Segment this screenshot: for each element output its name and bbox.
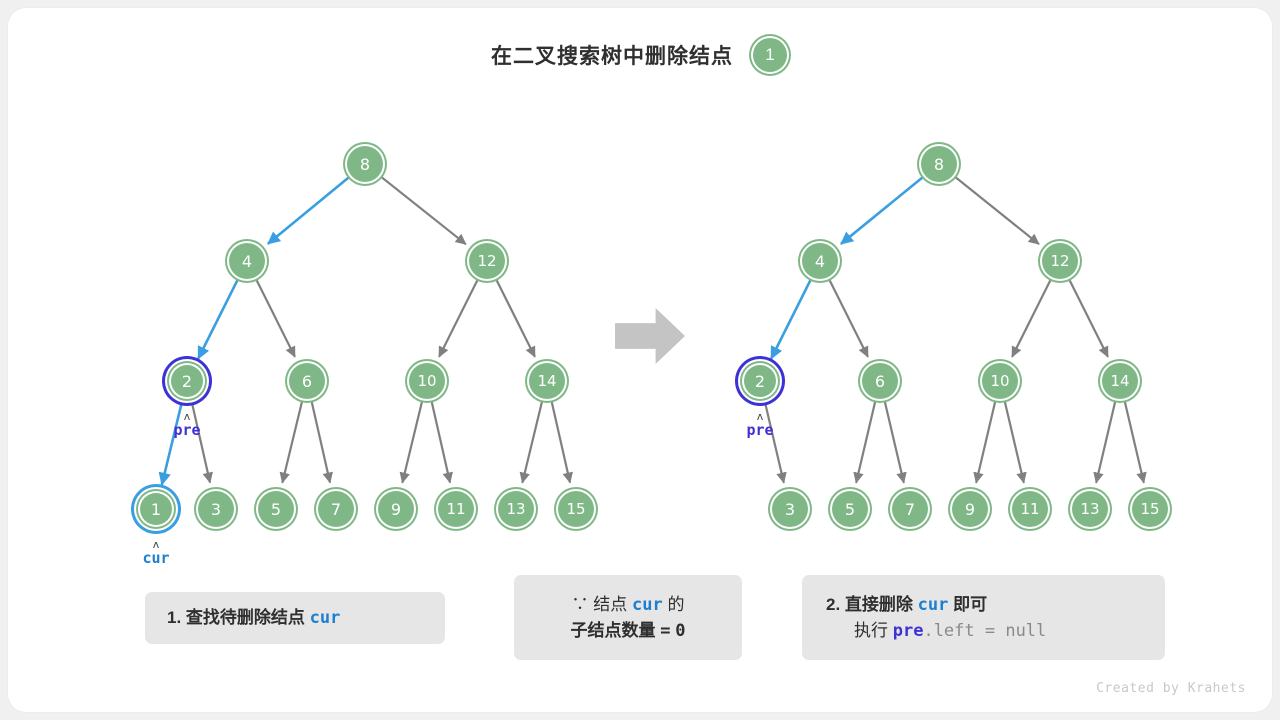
credit-text: Created by Krahets (1096, 681, 1246, 696)
tree-node-13[interactable]: 13 (496, 489, 536, 529)
caption-step-2: 2. 直接删除 cur 即可 执行 pre.left = null (802, 575, 1165, 660)
tree-node-3[interactable]: 3 (196, 489, 236, 529)
caption-2-line1-post: 的 (667, 595, 684, 614)
caption-3-line1-post: 即可 (953, 595, 987, 614)
tree-edge (256, 280, 295, 357)
tree-edge (496, 280, 535, 357)
transition-arrow-icon (615, 308, 685, 364)
tree-edge (1069, 280, 1108, 357)
tree-node-4[interactable]: 4 (227, 241, 267, 281)
tree-edge (955, 177, 1039, 244)
tree-edge (771, 280, 810, 359)
tree-node-9[interactable]: 9 (950, 489, 990, 529)
pointer-name: cur (142, 549, 169, 567)
tree-edge (1005, 401, 1024, 482)
tree-edge (402, 401, 422, 482)
tree-node-3[interactable]: 3 (770, 489, 810, 529)
tree-edge (268, 177, 349, 244)
pointer-name: pre (746, 421, 773, 439)
diagram-card: 在二叉搜索树中删除结点 1 841226101413579111315ʌpreʌ… (8, 8, 1272, 712)
tree-edge (1125, 401, 1144, 482)
right-tree-edges (764, 177, 1144, 483)
caret-icon: ʌ (152, 412, 222, 421)
tree-node-15[interactable]: 15 (556, 489, 596, 529)
tree-edge (552, 401, 570, 482)
caption-2-line2: 子结点数量 (571, 621, 656, 640)
tree-edge (522, 401, 542, 482)
tree-node-4[interactable]: 4 (800, 241, 840, 281)
tree-node-10[interactable]: 10 (980, 361, 1020, 401)
caption-2-line1-pre: ∵ 结点 (572, 595, 628, 614)
tree-edge (198, 280, 237, 359)
tree-edge (885, 401, 904, 482)
caption-reason: ∵ 结点 cur 的 子结点数量 = 0 (514, 575, 742, 660)
tree-node-5[interactable]: 5 (830, 489, 870, 529)
pointer-label-pre: ʌpre (152, 412, 222, 439)
caret-icon: ʌ (121, 540, 191, 549)
tree-node-15[interactable]: 15 (1130, 489, 1170, 529)
tree-node-12[interactable]: 12 (467, 241, 507, 281)
tree-edge (282, 401, 302, 482)
caption-step-1: 1. 查找待删除结点 cur (145, 592, 445, 644)
tree-node-8[interactable]: 8 (919, 144, 959, 184)
tree-node-9[interactable]: 9 (376, 489, 416, 529)
tree-node-11[interactable]: 11 (436, 489, 476, 529)
caption-3-code: .left = null (923, 621, 1046, 641)
tree-edge (1012, 280, 1051, 357)
tree-node-10[interactable]: 10 (407, 361, 447, 401)
tree-edge (1096, 401, 1115, 482)
caption-3-line1-pre: 2. 直接删除 (826, 595, 913, 614)
tree-edge (439, 280, 478, 357)
tree-edge (432, 401, 450, 482)
caption-3-line2-pre: 执行 (854, 621, 888, 640)
caption-3-var-pre: pre (893, 621, 924, 641)
pointer-label-pre: ʌpre (725, 412, 795, 439)
tree-edge (829, 280, 868, 357)
tree-edge (976, 401, 995, 482)
tree-node-7[interactable]: 7 (890, 489, 930, 529)
tree-node-5[interactable]: 5 (256, 489, 296, 529)
tree-node-14[interactable]: 14 (1100, 361, 1140, 401)
tree-edge (841, 177, 923, 244)
caption-3-var-cur: cur (918, 595, 949, 615)
tree-node-11[interactable]: 11 (1010, 489, 1050, 529)
tree-edge (381, 177, 465, 244)
tree-node-8[interactable]: 8 (345, 144, 385, 184)
tree-node-14[interactable]: 14 (527, 361, 567, 401)
caption-2-eq: = (660, 621, 670, 641)
tree-edge (856, 401, 875, 482)
caption-2-value: 0 (675, 621, 685, 641)
left-tree-edges (162, 177, 570, 485)
tree-node-2[interactable]: 2 (169, 363, 205, 399)
tree-node-1[interactable]: 1 (138, 491, 174, 527)
tree-node-6[interactable]: 6 (860, 361, 900, 401)
tree-edge (312, 401, 330, 482)
caret-icon: ʌ (725, 412, 795, 421)
pointer-name: pre (173, 421, 200, 439)
caption-1-text: 1. 查找待删除结点 (167, 608, 305, 627)
tree-node-12[interactable]: 12 (1040, 241, 1080, 281)
pointer-label-cur: ʌcur (121, 540, 191, 567)
caption-2-var: cur (632, 595, 663, 615)
tree-node-2[interactable]: 2 (742, 363, 778, 399)
caption-1-var: cur (310, 608, 341, 628)
right-arrow-icon (615, 308, 685, 364)
tree-node-13[interactable]: 13 (1070, 489, 1110, 529)
tree-node-6[interactable]: 6 (287, 361, 327, 401)
tree-node-7[interactable]: 7 (316, 489, 356, 529)
